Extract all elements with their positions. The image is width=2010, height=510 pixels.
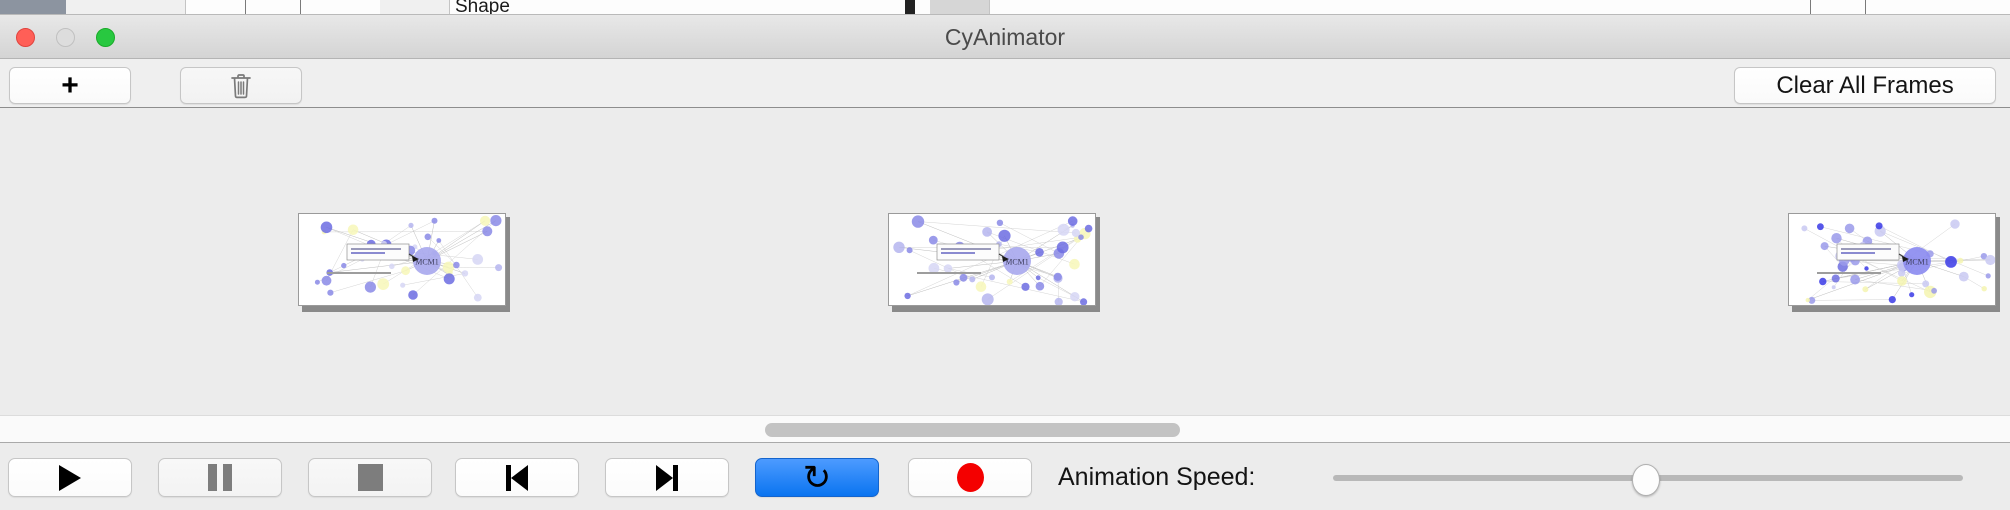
frame-thumbnail[interactable]: MCM1 (888, 213, 1098, 310)
background-window-strip: Shape (0, 0, 2010, 15)
timeline-scrollbar[interactable] (0, 415, 2010, 443)
skip-previous-button[interactable] (455, 458, 579, 497)
timeline-panel[interactable]: MCM1 MCM1 MCM1 12131415161718 Seconds (0, 109, 2010, 414)
animation-speed-slider-thumb[interactable] (1632, 464, 1660, 496)
frame-thumbnail[interactable]: MCM1 (298, 213, 508, 310)
timeline-scrollbar-thumb[interactable] (765, 423, 1180, 437)
pause-icon (208, 464, 232, 491)
background-marker (905, 0, 915, 15)
svg-text:MCM1: MCM1 (415, 258, 439, 267)
background-tab-3 (930, 0, 990, 15)
background-divider-1 (245, 0, 246, 15)
clear-all-frames-label: Clear All Frames (1776, 72, 1953, 100)
background-window-sidebar (0, 0, 66, 15)
clear-all-frames-button[interactable]: Clear All Frames (1734, 67, 1996, 104)
background-divider-3 (1810, 0, 1811, 15)
record-icon (957, 463, 984, 492)
background-window-label: Shape (455, 0, 510, 15)
frame-thumbnail-image: MCM1 (1788, 213, 1996, 306)
trash-icon (230, 73, 252, 99)
loop-icon: ↻ (803, 461, 832, 495)
background-tab-1 (66, 0, 186, 15)
skip-next-button[interactable] (605, 458, 729, 497)
toolbar: + Clear All Frames (0, 59, 2010, 108)
play-icon (59, 465, 81, 491)
animation-speed-label: Animation Speed: (1058, 458, 1255, 497)
stop-icon (358, 464, 383, 491)
frame-thumbnail-image: MCM1 (298, 213, 506, 306)
cyanimator-window: Shape CyAnimator + Clear All Frames (0, 0, 2010, 510)
svg-text:MCM1: MCM1 (1905, 258, 1929, 267)
add-frame-button[interactable]: + (9, 67, 131, 104)
window-title: CyAnimator (0, 15, 2010, 59)
pause-button[interactable] (158, 458, 282, 497)
svg-text:MCM1: MCM1 (1005, 258, 1029, 267)
background-divider-2 (300, 0, 301, 15)
background-divider-4 (1865, 0, 1866, 15)
record-button[interactable] (908, 458, 1032, 497)
title-bar: CyAnimator (0, 15, 2010, 59)
loop-button[interactable]: ↻ (755, 458, 879, 497)
skip-previous-icon (506, 465, 528, 491)
background-tab-2 (380, 0, 450, 15)
playback-control-bar: ↻ Animation Speed: (0, 444, 2010, 510)
play-button[interactable] (8, 458, 132, 497)
plus-icon: + (61, 71, 79, 101)
delete-frame-button[interactable] (180, 67, 302, 104)
frame-thumbnail[interactable]: MCM1 (1788, 213, 1998, 310)
frame-thumbnail-image: MCM1 (888, 213, 1096, 306)
stop-button[interactable] (308, 458, 432, 497)
skip-next-icon (656, 465, 678, 491)
